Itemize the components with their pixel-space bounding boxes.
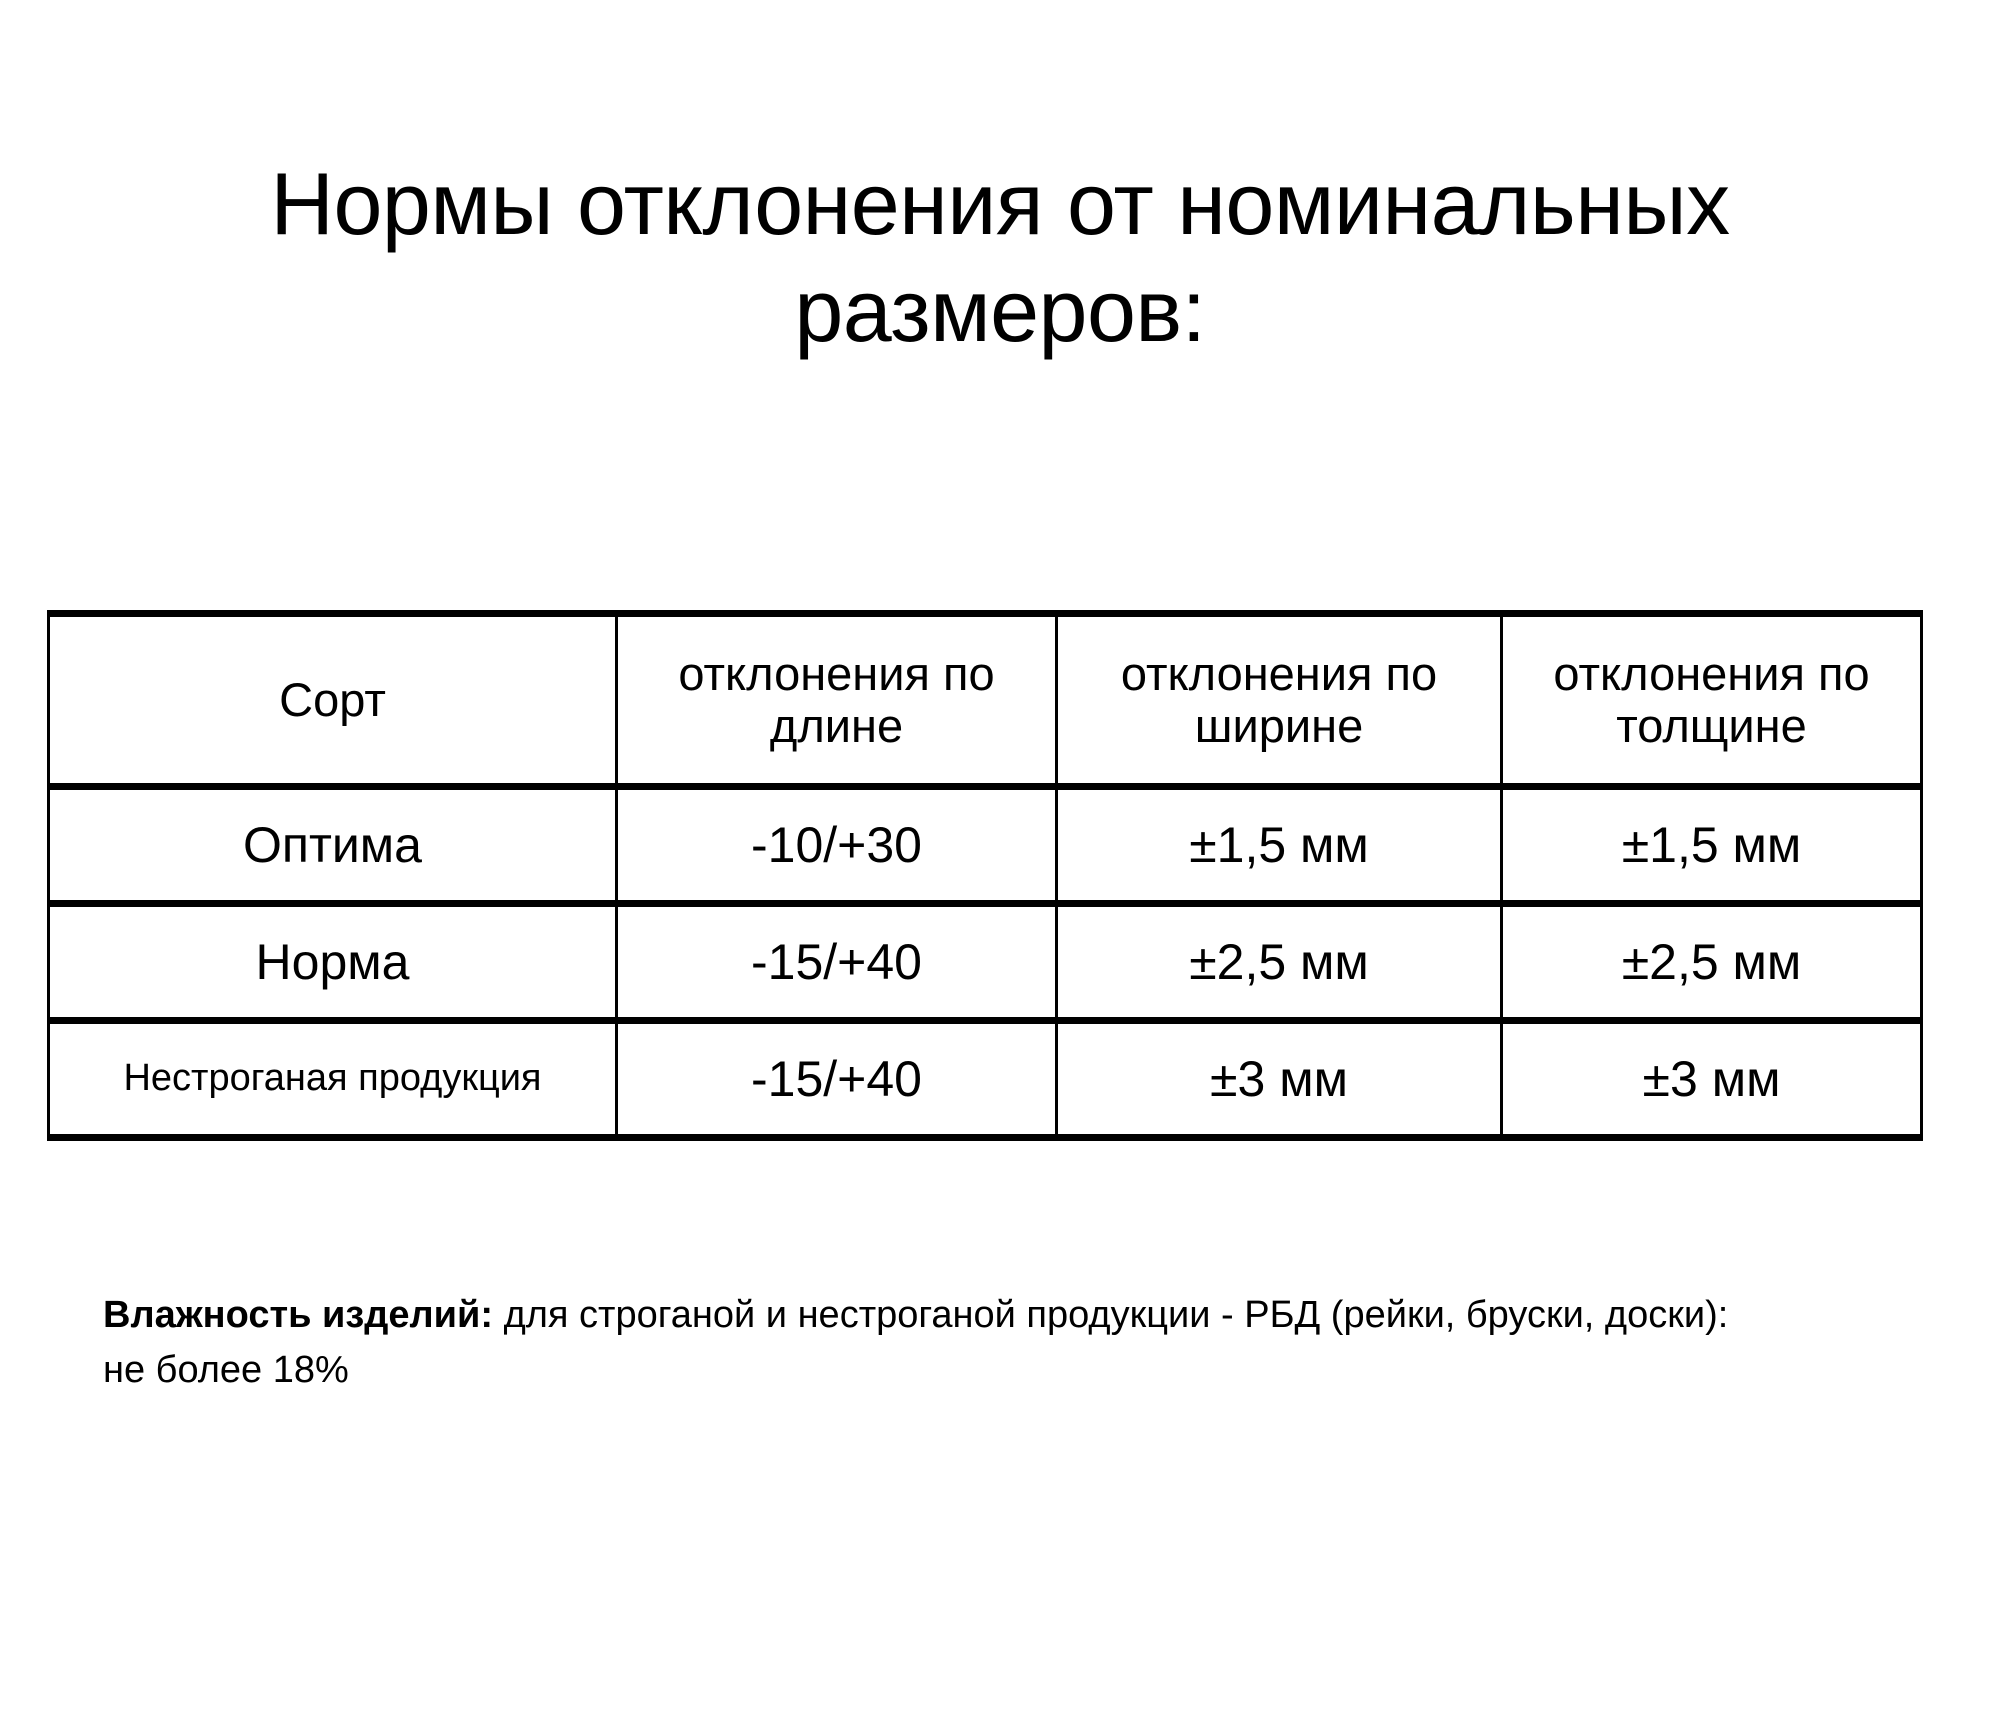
table-row: Нестроганая продукция -15/+40 ±3 мм ±3 м… <box>49 1021 1922 1138</box>
cell-width-optima: ±1,5 мм <box>1057 787 1502 904</box>
cell-grade-norma: Норма <box>49 904 617 1021</box>
table-header-row: Сорт отклонения по длине отклонения по ш… <box>49 614 1922 787</box>
page-title: Нормы отклонения от номинальных размеров… <box>0 150 2000 365</box>
moisture-footnote: Влажность изделий: для строганой и нестр… <box>103 1288 1883 1398</box>
cell-width-unplaned: ±3 мм <box>1057 1021 1502 1138</box>
cell-length-unplaned: -15/+40 <box>617 1021 1057 1138</box>
column-header-width-deviation: отклонения по ширине <box>1057 614 1502 787</box>
cell-thickness-optima: ±1,5 мм <box>1502 787 1922 904</box>
column-header-thickness-deviation: отклонения по толщине <box>1502 614 1922 787</box>
deviation-norms-table-wrapper: Сорт отклонения по длине отклонения по ш… <box>47 610 1920 1141</box>
cell-thickness-unplaned: ±3 мм <box>1502 1021 1922 1138</box>
cell-thickness-norma: ±2,5 мм <box>1502 904 1922 1021</box>
cell-width-norma: ±2,5 мм <box>1057 904 1502 1021</box>
footnote-lead-label: Влажность изделий: <box>103 1294 493 1336</box>
cell-grade-unplaned: Нестроганая продукция <box>49 1021 617 1138</box>
footnote-second-line: не более 18% <box>103 1343 1883 1398</box>
footnote-rest-text: для строганой и нестроганой продукции - … <box>493 1294 1728 1336</box>
table-row: Норма -15/+40 ±2,5 мм ±2,5 мм <box>49 904 1922 1021</box>
cell-grade-optima: Оптима <box>49 787 617 904</box>
column-header-length-deviation: отклонения по длине <box>617 614 1057 787</box>
deviation-norms-table: Сорт отклонения по длине отклонения по ш… <box>47 610 1923 1141</box>
table-row: Оптима -10/+30 ±1,5 мм ±1,5 мм <box>49 787 1922 904</box>
slide-canvas: Нормы отклонения от номинальных размеров… <box>0 0 2000 1726</box>
cell-length-norma: -15/+40 <box>617 904 1057 1021</box>
cell-length-optima: -10/+30 <box>617 787 1057 904</box>
column-header-grade: Сорт <box>49 614 617 787</box>
